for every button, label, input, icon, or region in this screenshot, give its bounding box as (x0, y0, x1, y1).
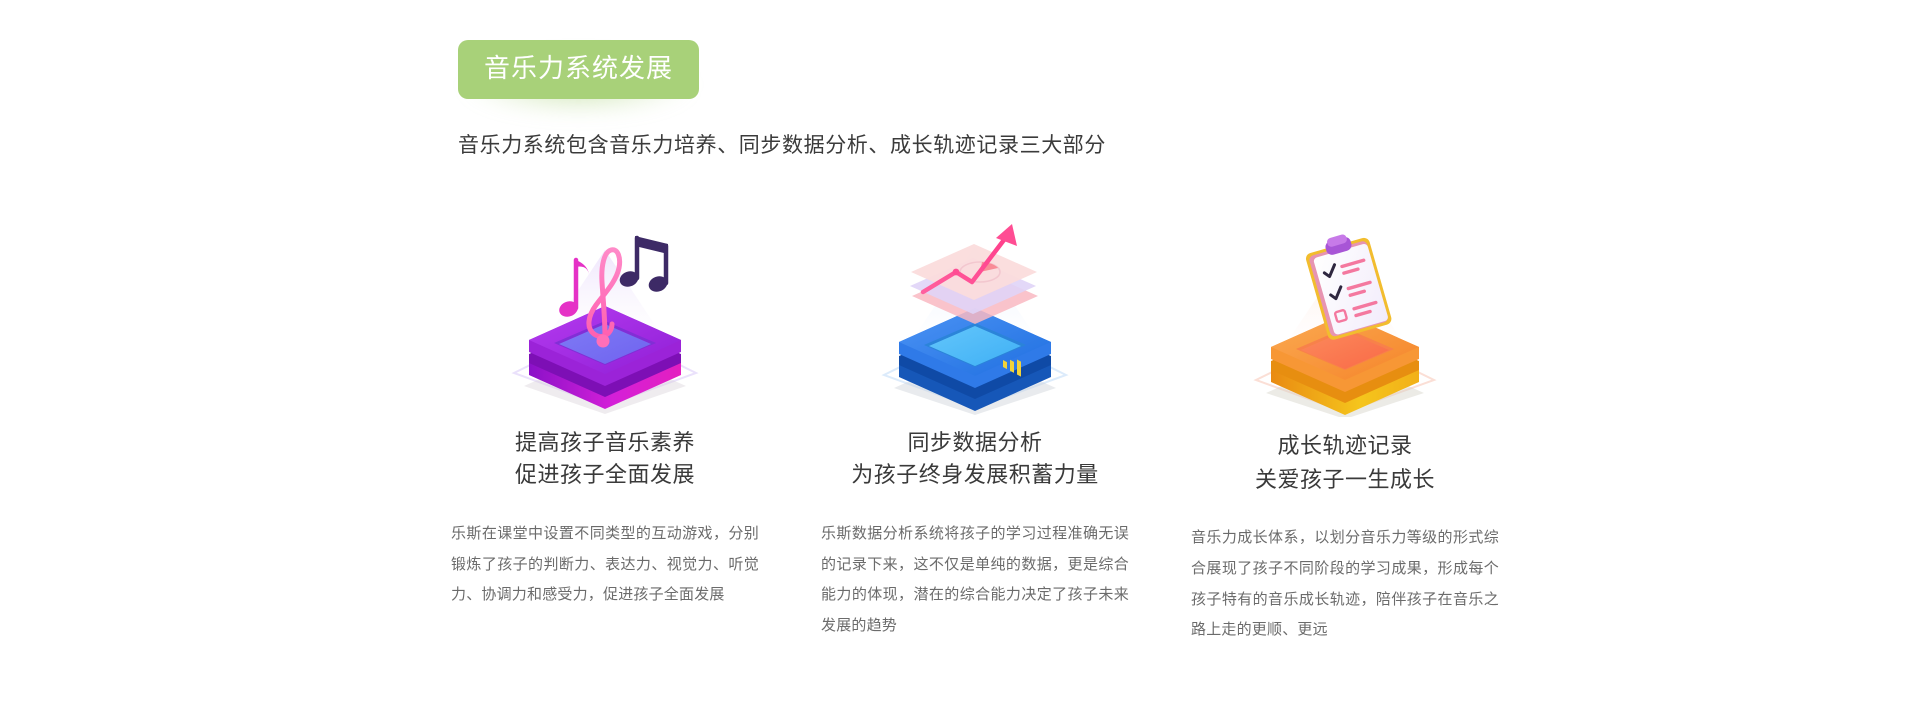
checklist-clipboard-platform-icon (1230, 222, 1460, 417)
feature-body-text: 乐斯在课堂中设置不同类型的互动游戏，分别锻炼了孩子的判断力、表达力、视觉力、听觉… (451, 519, 759, 611)
section-subtitle: 音乐力系统包含音乐力培养、同步数据分析、成长轨迹记录三大部分 (458, 129, 1458, 159)
section-badge-wrapper: 音乐力系统发展 (458, 40, 699, 99)
checklist-clipboard-platform-svg (1230, 222, 1460, 417)
feature-heading-line2: 促进孩子全面发展 (515, 459, 695, 491)
feature-heading-line1: 成长轨迹记录 (1255, 429, 1435, 463)
feature-columns: 提高孩子音乐素养 促进孩子全面发展 乐斯在课堂中设置不同类型的互动游戏，分别锻炼… (420, 210, 1530, 646)
feature-body-text: 音乐力成长体系，以划分音乐力等级的形式综合展现了孩子不同阶段的学习成果，形成每个… (1191, 523, 1499, 646)
feature-heading: 成长轨迹记录 关爱孩子一生成长 (1255, 429, 1435, 497)
feature-heading-line2: 为孩子终身发展积蓄力量 (851, 459, 1099, 491)
music-notes-platform-icon (490, 210, 720, 415)
section-title-badge: 音乐力系统发展 (458, 40, 699, 99)
feature-heading-line1: 提高孩子音乐素养 (515, 427, 695, 459)
feature-body-text: 乐斯数据分析系统将孩子的学习过程准确无误的记录下来，这不仅是单纯的数据，更是综合… (821, 519, 1129, 642)
feature-column-data: 同步数据分析 为孩子终身发展积蓄力量 乐斯数据分析系统将孩子的学习过程准确无误的… (790, 210, 1160, 642)
feature-heading: 提高孩子音乐素养 促进孩子全面发展 (515, 427, 695, 491)
data-charts-platform-svg (860, 210, 1090, 415)
header-section: 音乐力系统发展 音乐力系统包含音乐力培养、同步数据分析、成长轨迹记录三大部分 (458, 40, 1458, 159)
data-charts-platform-icon (860, 210, 1090, 415)
feature-column-growth: 成长轨迹记录 关爱孩子一生成长 音乐力成长体系，以划分音乐力等级的形式综合展现了… (1160, 210, 1530, 646)
feature-heading-line2: 关爱孩子一生成长 (1255, 463, 1435, 497)
feature-column-music: 提高孩子音乐素养 促进孩子全面发展 乐斯在课堂中设置不同类型的互动游戏，分别锻炼… (420, 210, 790, 611)
feature-heading: 同步数据分析 为孩子终身发展积蓄力量 (851, 427, 1099, 491)
beamed-notes-dark (618, 236, 670, 294)
music-notes-platform-svg (490, 210, 720, 415)
feature-heading-line1: 同步数据分析 (851, 427, 1099, 459)
page-root: 音乐力系统发展 音乐力系统包含音乐力培养、同步数据分析、成长轨迹记录三大部分 (0, 0, 1920, 722)
